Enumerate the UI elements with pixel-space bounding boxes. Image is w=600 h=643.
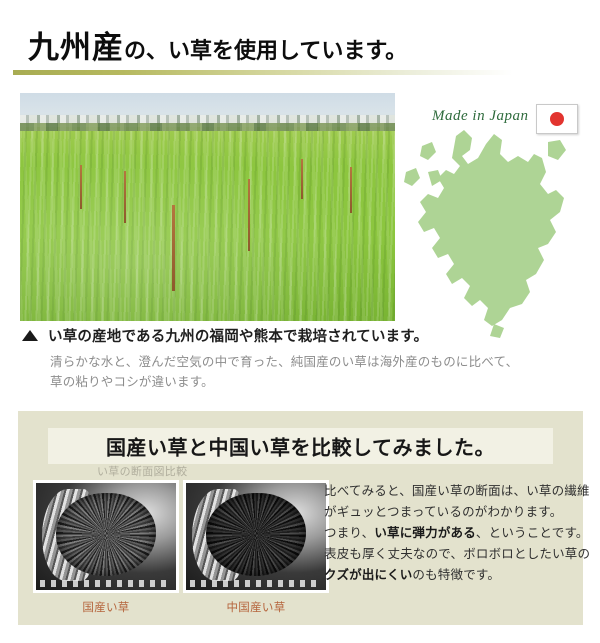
flag-red-disc: [550, 112, 564, 126]
micrograph-label-chinese: 中国産い草: [183, 599, 329, 615]
comparison-heading-band: 国産い草と中国い草を比較してみました。: [48, 428, 553, 464]
comparison-body-line1: 比べてみると、国産い草の断面は、い草の繊維: [324, 481, 574, 502]
kyushu-map-icon: [398, 128, 588, 340]
comparison-body-line4: 表皮も厚く丈夫なので、ボロボロとしたい草の: [324, 544, 574, 565]
chinese-igusa-micrograph: [183, 480, 329, 593]
micrograph-caption: い草の断面図比較: [97, 463, 187, 479]
comparison-body-text: 比べてみると、国産い草の断面は、い草の繊維 がギュッとつまっているのがわかります…: [324, 481, 574, 586]
comparison-section: 国産い草と中国い草を比較してみました。 い草の断面図比較 国産い草 中国産い草 …: [18, 411, 583, 625]
comparison-body-line5: クズが出にくいのも特徴です。: [324, 565, 574, 586]
micrograph-scalebar: [40, 580, 172, 587]
line3-post: 、ということです。: [476, 526, 589, 540]
field-stake: [301, 159, 303, 199]
line5-strong: クズが出にくい: [324, 568, 412, 582]
field-stake: [350, 167, 352, 213]
photo-caption-main: い草の産地である九州の福岡や熊本で栽培されています。: [48, 325, 428, 346]
comparison-heading: 国産い草と中国い草を比較してみました。: [48, 432, 553, 461]
photo-caption-sub-line1: 清らかな水と、澄んだ空気の中で育った、純国産のい草は海外産のものに比べて、: [50, 352, 518, 372]
igusa-field-photo: [20, 93, 395, 321]
line3-strong: い草に弾力がある: [374, 526, 476, 540]
page-title-rest: の、い草を使用しています。: [124, 38, 407, 63]
domestic-igusa-micrograph: [33, 480, 179, 593]
line5-post: のも特徴です。: [412, 568, 500, 582]
micrograph-image: [186, 483, 326, 590]
field-stake: [248, 179, 250, 251]
photo-rush-field: [20, 131, 395, 321]
field-stake: [80, 165, 82, 209]
made-in-japan-label: Made in Japan: [432, 108, 528, 125]
photo-caption-sub-line2: 草の粘りやコシが違います。: [50, 372, 518, 392]
micrograph-scalebar: [190, 580, 322, 587]
line3-pre: つまり、: [324, 526, 374, 540]
micrograph-image: [36, 483, 176, 590]
title-underline-rule: [13, 70, 513, 75]
page-title-lead: 九州産: [28, 30, 124, 65]
photo-caption-sub: 清らかな水と、澄んだ空気の中で育った、純国産のい草は海外産のものに比べて、 草の…: [50, 352, 518, 392]
micrograph-label-domestic: 国産い草: [33, 599, 179, 615]
triangle-marker-icon: [22, 330, 38, 341]
comparison-body-line2: がギュッとつまっているのがわかります。: [324, 502, 574, 523]
photo-caption-row: い草の産地である九州の福岡や熊本で栽培されています。: [22, 325, 428, 346]
field-stake: [124, 171, 126, 223]
field-stake: [172, 205, 175, 291]
comparison-body-line3: つまり、い草に弾力がある、ということです。: [324, 523, 574, 544]
page-title: 九州産の、い草を使用しています。: [28, 22, 407, 67]
